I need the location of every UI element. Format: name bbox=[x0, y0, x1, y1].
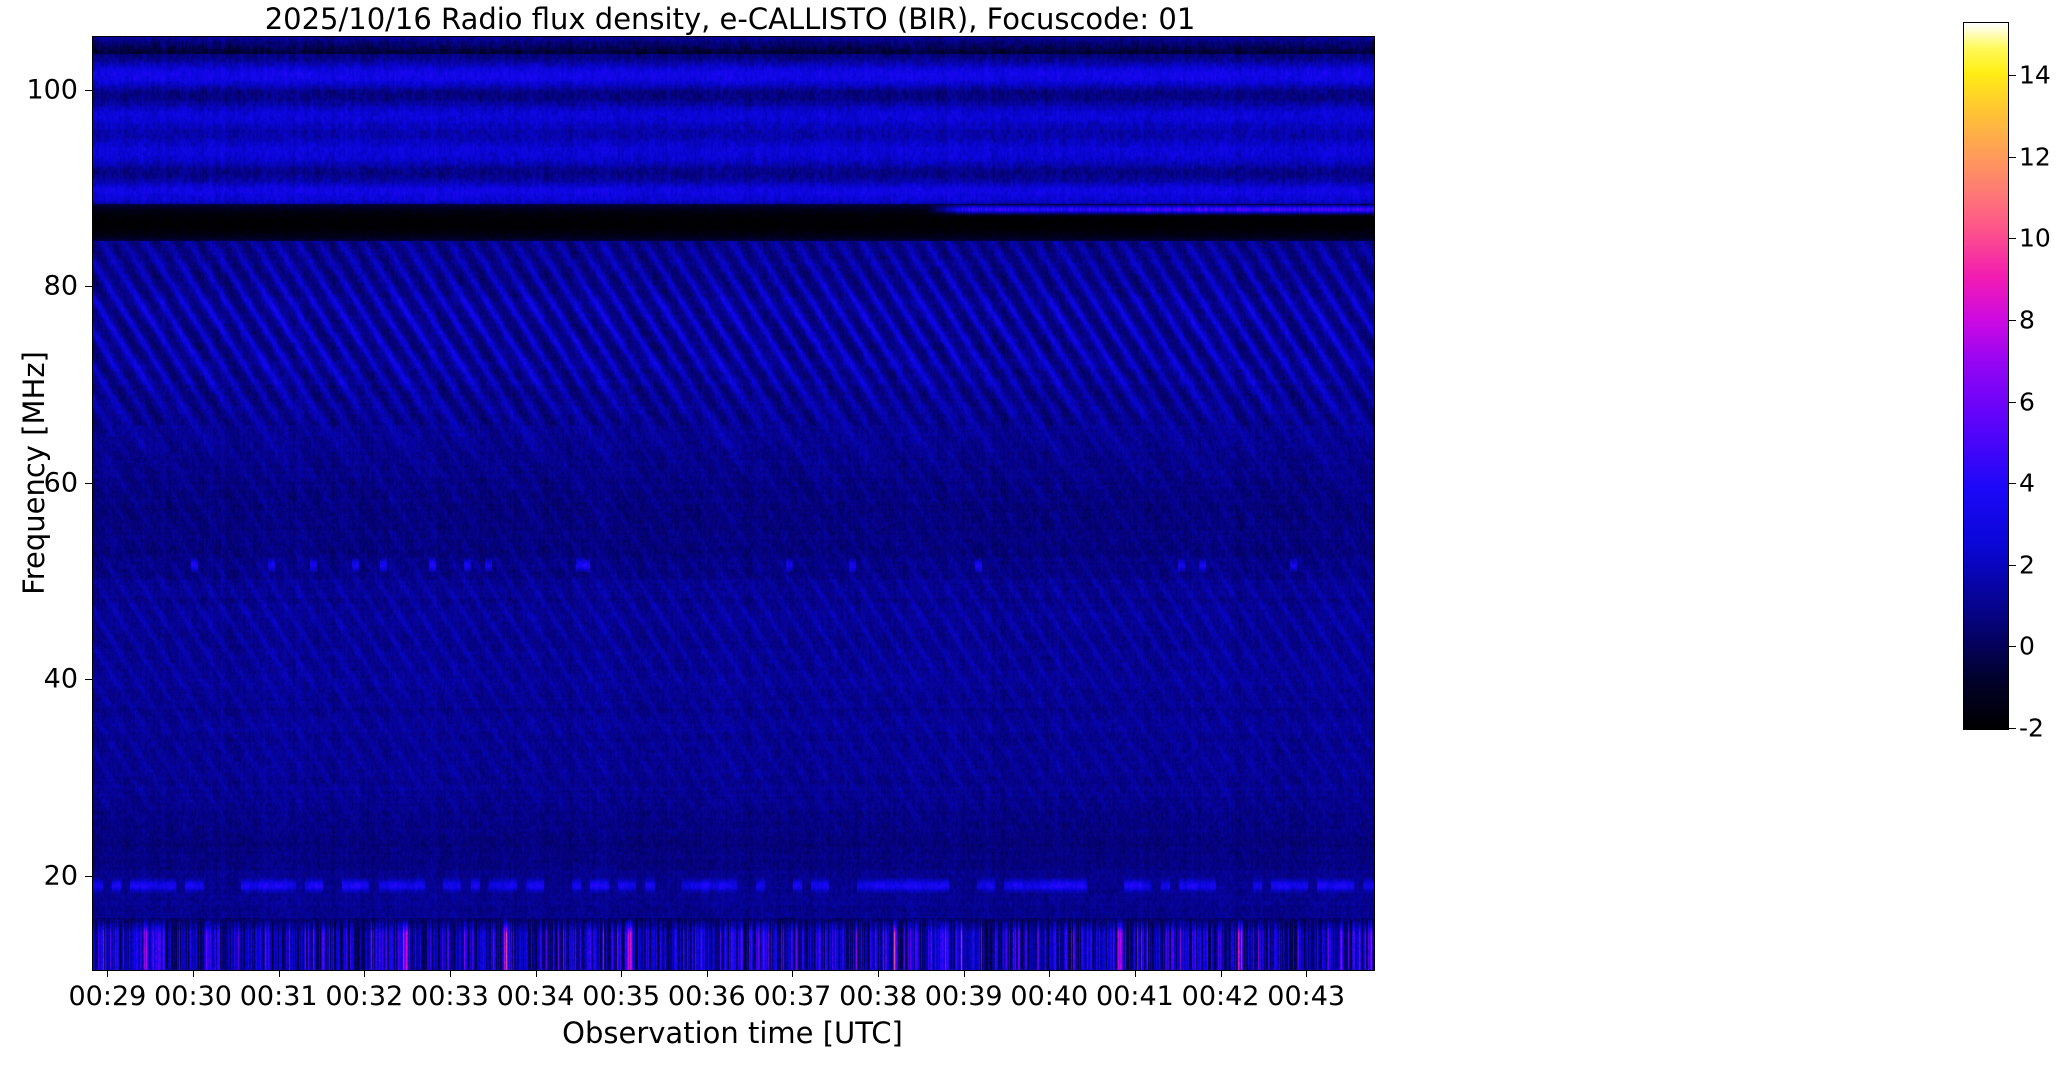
colorbar-tick-mark bbox=[2008, 75, 2016, 76]
colorbar-tick-label: -2 bbox=[2019, 714, 2044, 743]
colorbar-tick-mark bbox=[2008, 565, 2016, 566]
x-tick-mark bbox=[1135, 970, 1136, 977]
colorbar-tick-mark bbox=[2008, 157, 2016, 158]
colorbar-tick-mark bbox=[2008, 320, 2016, 321]
colorbar-tick-label: 8 bbox=[2019, 305, 2035, 334]
x-tick-label: 00:29 bbox=[69, 981, 147, 1012]
colorbar-tick-mark bbox=[2008, 646, 2016, 647]
colorbar-gradient bbox=[1964, 23, 2008, 729]
spectrogram-figure: 2025/10/16 Radio flux density, e-CALLIST… bbox=[0, 0, 2066, 1067]
colorbar-tick-mark bbox=[2008, 402, 2016, 403]
x-tick-mark bbox=[621, 970, 622, 977]
colorbar-tick-label: 0 bbox=[2019, 632, 2035, 661]
x-tick-label: 00:36 bbox=[668, 981, 746, 1012]
x-tick-label: 00:33 bbox=[411, 981, 489, 1012]
x-tick-label: 00:38 bbox=[839, 981, 917, 1012]
colorbar-tick-mark bbox=[2008, 238, 2016, 239]
x-tick-mark bbox=[964, 970, 965, 977]
x-tick-label: 00:39 bbox=[925, 981, 1003, 1012]
x-tick-label: 00:41 bbox=[1096, 981, 1174, 1012]
x-tick-mark bbox=[1306, 970, 1307, 977]
x-tick-label: 00:30 bbox=[154, 981, 232, 1012]
x-axis-ticks: 00:2900:3000:3100:3200:3300:3400:3500:36… bbox=[0, 0, 2066, 1067]
x-tick-mark bbox=[792, 970, 793, 977]
x-tick-mark bbox=[1049, 970, 1050, 977]
x-tick-label: 00:42 bbox=[1182, 981, 1260, 1012]
colorbar-tick-label: 10 bbox=[2019, 224, 2051, 253]
x-tick-mark bbox=[279, 970, 280, 977]
x-tick-mark bbox=[707, 970, 708, 977]
x-tick-mark bbox=[193, 970, 194, 977]
colorbar-tick-label: 6 bbox=[2019, 387, 2035, 416]
x-tick-label: 00:34 bbox=[497, 981, 575, 1012]
x-tick-mark bbox=[536, 970, 537, 977]
x-tick-mark bbox=[107, 970, 108, 977]
x-tick-label: 00:31 bbox=[240, 981, 318, 1012]
colorbar-tick-mark bbox=[2008, 483, 2016, 484]
colorbar bbox=[1963, 22, 2009, 730]
x-tick-label: 00:40 bbox=[1010, 981, 1088, 1012]
x-tick-mark bbox=[364, 970, 365, 977]
x-tick-label: 00:35 bbox=[582, 981, 660, 1012]
colorbar-tick-label: 2 bbox=[2019, 550, 2035, 579]
x-tick-label: 00:37 bbox=[754, 981, 832, 1012]
x-tick-mark bbox=[878, 970, 879, 977]
x-tick-label: 00:32 bbox=[325, 981, 403, 1012]
x-tick-label: 00:43 bbox=[1267, 981, 1345, 1012]
colorbar-tick-label: 14 bbox=[2019, 61, 2051, 90]
x-tick-mark bbox=[450, 970, 451, 977]
x-tick-mark bbox=[1221, 970, 1222, 977]
colorbar-tick-label: 4 bbox=[2019, 469, 2035, 498]
colorbar-tick-mark bbox=[2008, 728, 2016, 729]
colorbar-tick-label: 12 bbox=[2019, 142, 2051, 171]
